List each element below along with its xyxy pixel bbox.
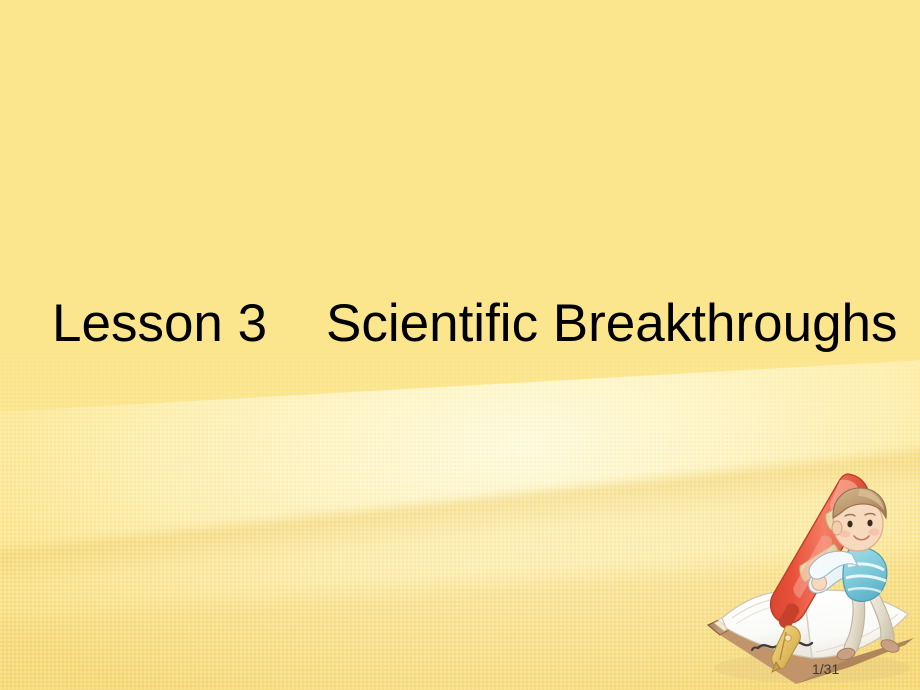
page-title: Lesson 3 Scientific Breakthroughs <box>52 296 898 352</box>
presentation-slide: Lesson 3 Scientific Breakthroughs <box>0 0 920 690</box>
background-dot-texture <box>0 331 920 690</box>
page-number-indicator: 1/31 <box>812 661 839 677</box>
